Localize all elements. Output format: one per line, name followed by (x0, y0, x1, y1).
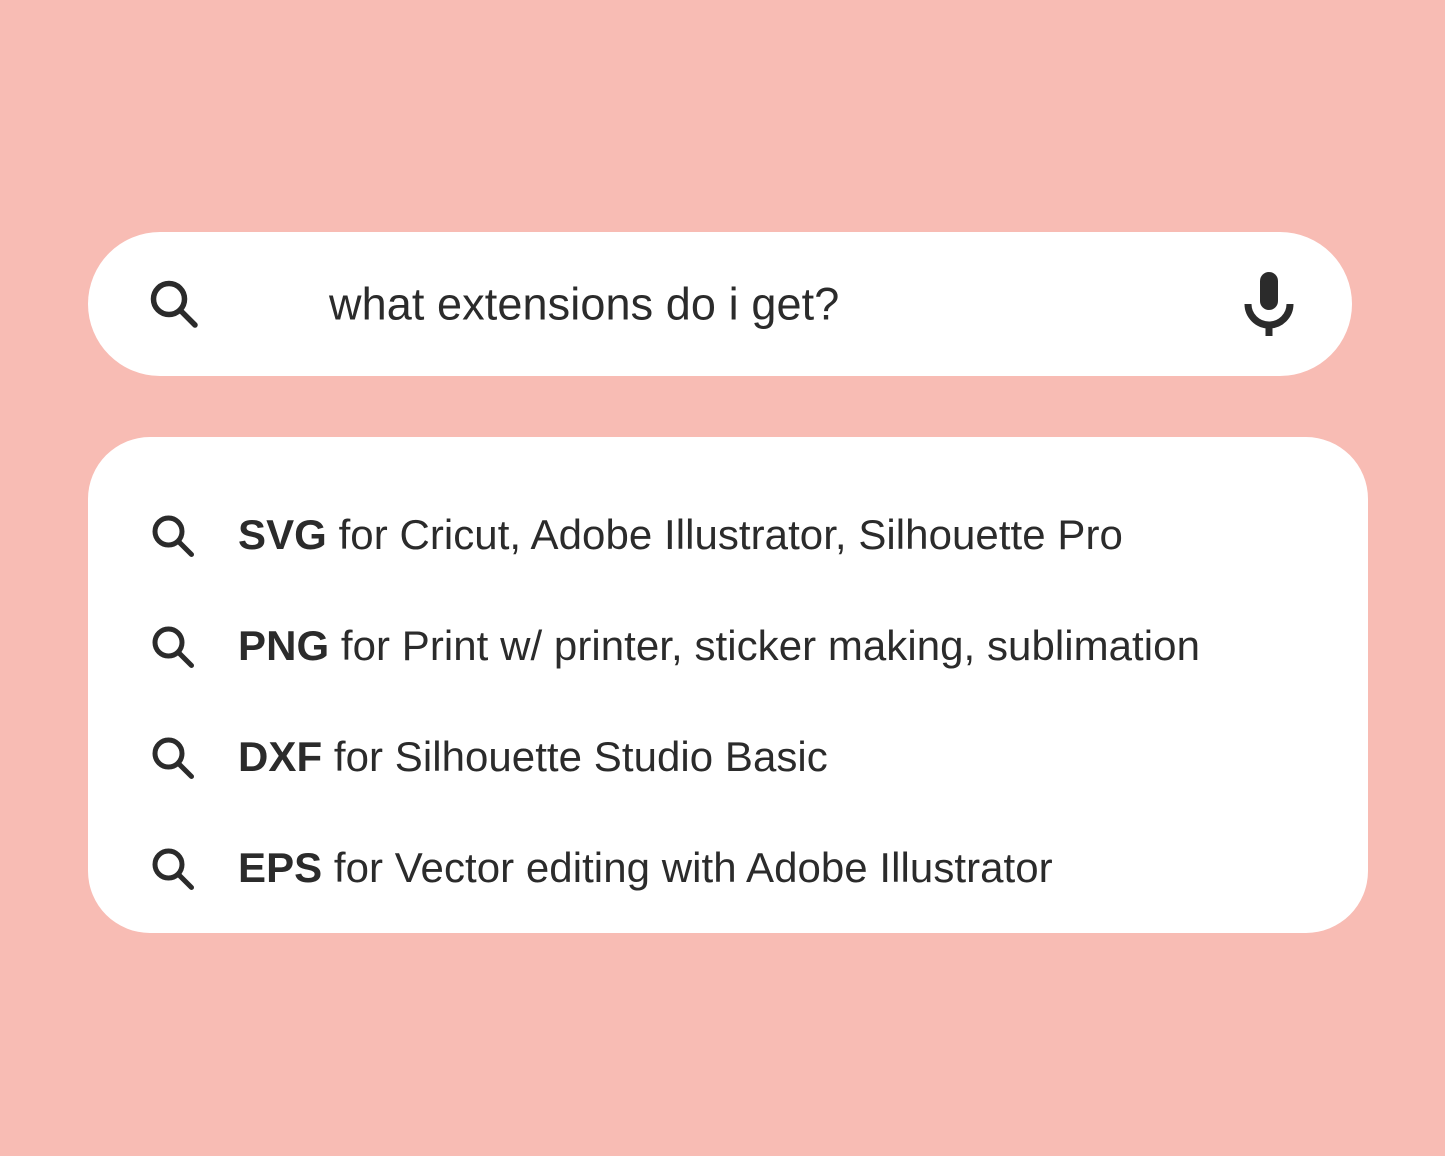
file-format-description: for Silhouette Studio Basic (322, 733, 828, 780)
search-icon (148, 278, 200, 330)
file-format-label: EPS (238, 844, 322, 891)
list-item-text: SVG for Cricut, Adobe Illustrator, Silho… (238, 511, 1123, 559)
search-icon (150, 624, 196, 670)
search-results-card: SVG for Cricut, Adobe Illustrator, Silho… (88, 437, 1368, 933)
list-item-text: EPS for Vector editing with Adobe Illust… (238, 844, 1053, 892)
search-input[interactable]: what extensions do i get? (329, 279, 839, 329)
file-format-label: DXF (238, 733, 322, 780)
file-format-label: SVG (238, 511, 327, 558)
microphone-icon[interactable] (1238, 270, 1300, 338)
list-item[interactable]: EPS for Vector editing with Adobe Illust… (88, 813, 1368, 924)
file-format-description: for Vector editing with Adobe Illustrato… (322, 844, 1053, 891)
list-item[interactable]: PNG for Print w/ printer, sticker making… (88, 591, 1368, 702)
search-icon (150, 846, 196, 892)
file-format-label: PNG (238, 622, 329, 669)
file-format-description: for Cricut, Adobe Illustrator, Silhouett… (327, 511, 1123, 558)
search-bar[interactable]: what extensions do i get? (88, 232, 1352, 376)
file-format-description: for Print w/ printer, sticker making, su… (329, 622, 1200, 669)
search-icon (150, 735, 196, 781)
list-item[interactable]: SVG for Cricut, Adobe Illustrator, Silho… (88, 480, 1368, 591)
list-item-text: PNG for Print w/ printer, sticker making… (238, 622, 1200, 670)
list-item[interactable]: DXF for Silhouette Studio Basic (88, 702, 1368, 813)
search-icon (150, 513, 196, 559)
list-item-text: DXF for Silhouette Studio Basic (238, 733, 828, 781)
